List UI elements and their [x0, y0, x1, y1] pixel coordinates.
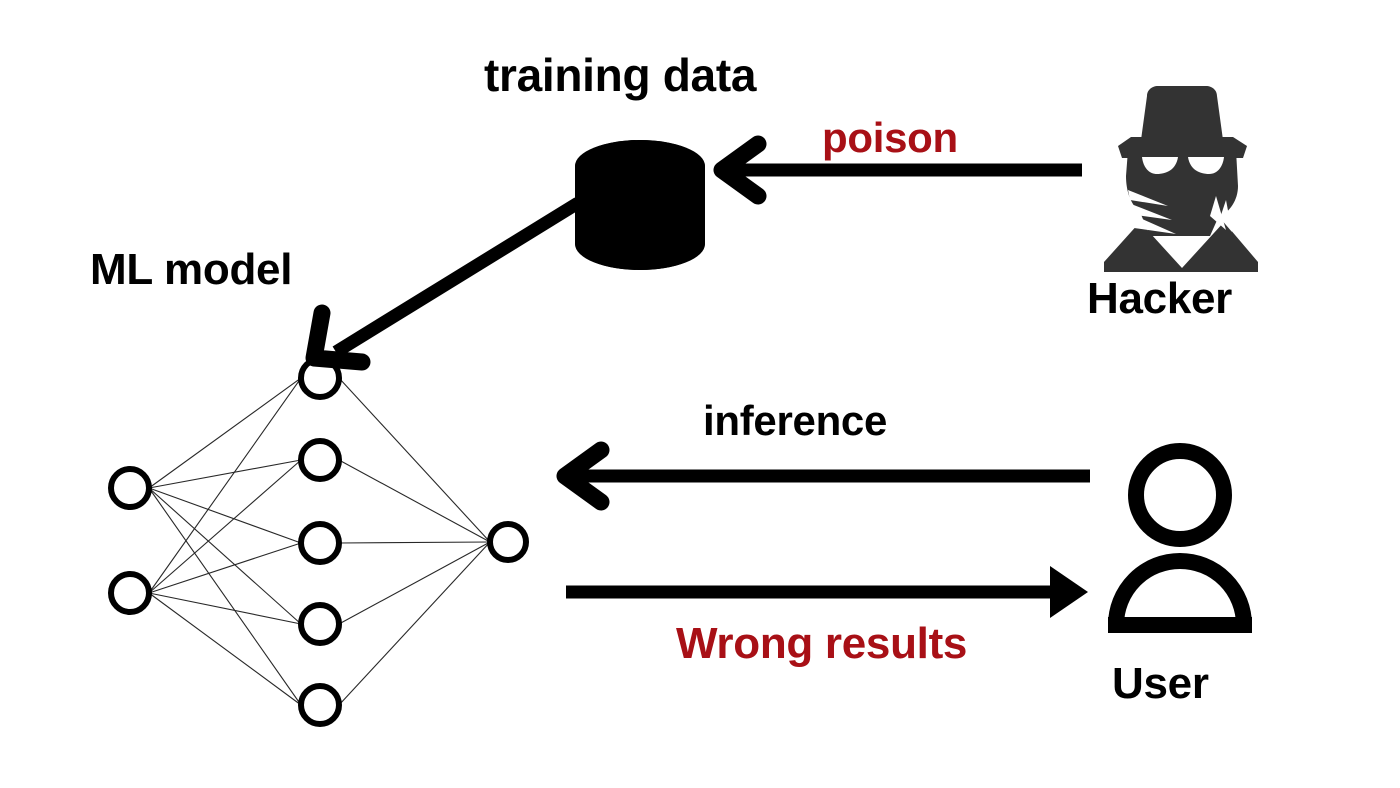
poison-label: poison [822, 117, 958, 159]
user-person-icon [1108, 451, 1252, 625]
nn-input-node-1 [111, 469, 149, 507]
database-bands [575, 140, 705, 270]
nn-input-node-2 [111, 574, 149, 612]
user-label: User [1112, 662, 1209, 706]
neural-network-nodes [111, 359, 526, 724]
training-data-label: training data [484, 52, 756, 98]
ml-model-label: ML model [90, 248, 292, 292]
nn-output-node [490, 524, 526, 560]
training-to-model-arrow [314, 203, 578, 362]
wrong-results-arrow [566, 566, 1088, 618]
nn-hidden-node-2 [301, 441, 339, 479]
hacker-label: Hacker [1087, 277, 1232, 321]
nn-hidden-node-3 [301, 524, 339, 562]
wrong-results-label: Wrong results [676, 622, 967, 666]
inference-arrow [565, 450, 1090, 502]
nn-hidden-node-5 [301, 686, 339, 724]
inference-label: inference [703, 400, 887, 442]
diagram-canvas: training data poison Hacker ML model inf… [0, 0, 1400, 788]
nn-hidden-node-4 [301, 605, 339, 643]
hacker-hooded-icon [1104, 86, 1258, 272]
